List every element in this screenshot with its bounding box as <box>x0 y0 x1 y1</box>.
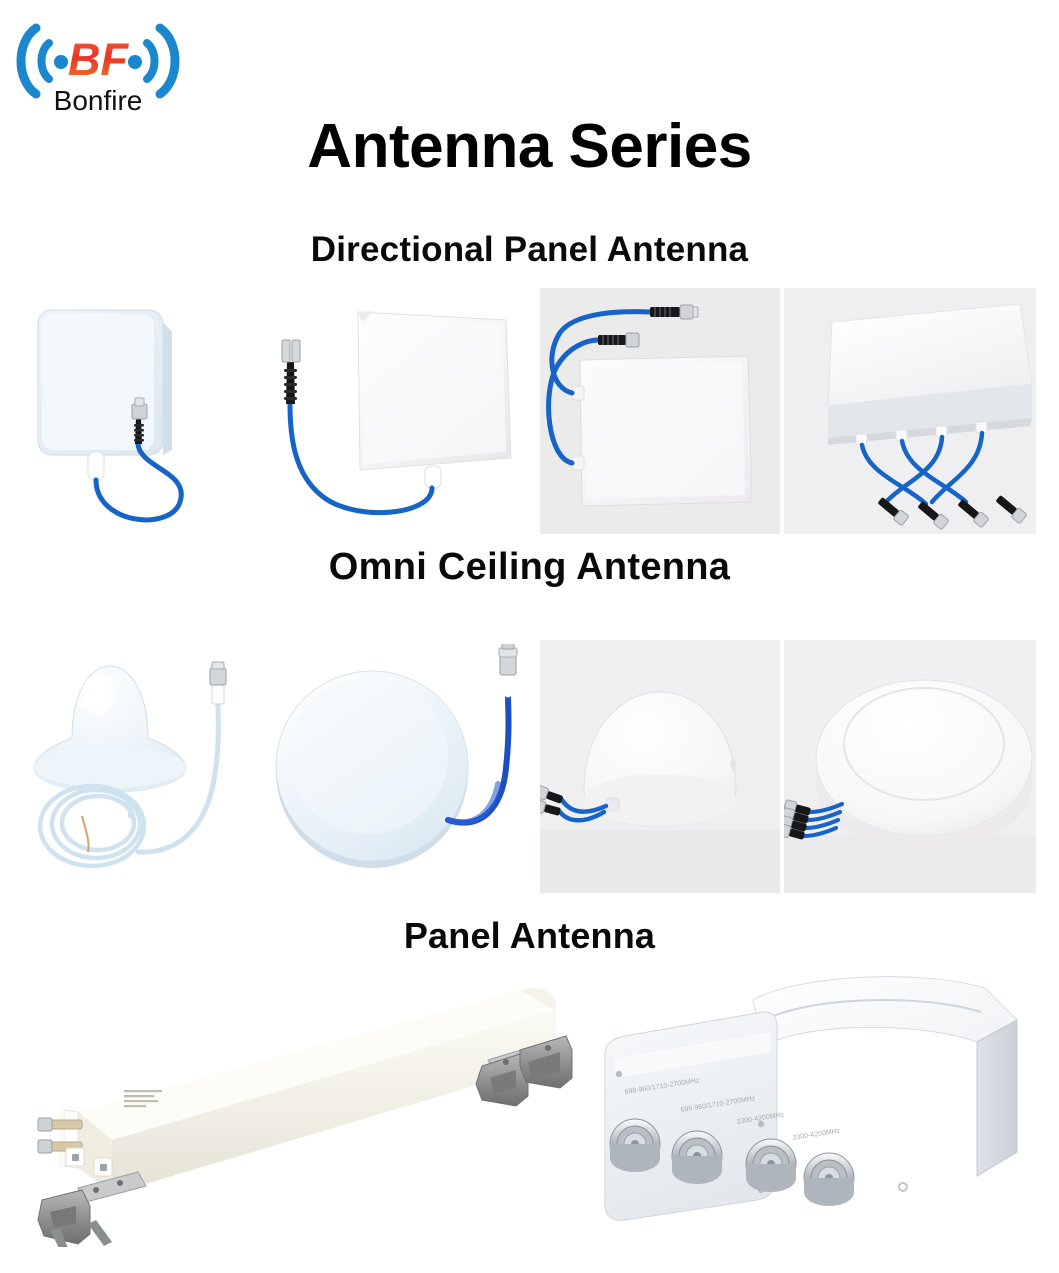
product-photo-flat-panel-antenna-single-port <box>262 296 540 534</box>
brand-name: Bonfire <box>54 85 143 116</box>
product-photo-dome-ceiling-antenna-coiled-cable <box>10 640 270 898</box>
product-photo-wall-mount-panel-antenna <box>20 292 270 536</box>
section-title-directional: Directional Panel Antenna <box>0 232 1059 267</box>
section-row-panel: 698-960/1710-2700MHz 698-960/1710-2700MH… <box>0 962 1059 1252</box>
wifi-signal-icon: BF Bonfire <box>8 18 188 116</box>
section-row-directional <box>0 286 1059 536</box>
port-label-4: 3300-4200MHz <box>792 1127 841 1141</box>
product-photo-flat-panel-antenna-dual-port <box>540 288 780 534</box>
product-photo-dome-ceiling-antenna-dual-port <box>540 640 780 893</box>
page-title: Antenna Series <box>0 116 1059 178</box>
catalog-page: BF Bonfire Antenna Series Directional Pa… <box>0 0 1059 1273</box>
brand-abbr: BF <box>68 34 129 85</box>
brand-logo: BF Bonfire <box>8 18 188 116</box>
product-photo-four-port-panel-antenna-enclosure: 698-960/1710-2700MHz 698-960/1710-2700MH… <box>585 962 1045 1247</box>
product-photo-sector-panel-antenna-with-brackets <box>20 962 580 1247</box>
section-title-panel: Panel Antenna <box>0 918 1059 954</box>
section-row-omni <box>0 640 1059 898</box>
product-photo-dome-ceiling-antenna-quad-port <box>784 640 1036 893</box>
product-photo-flat-disc-ceiling-antenna <box>268 644 540 896</box>
section-title-omni: Omni Ceiling Antenna <box>0 548 1059 586</box>
product-photo-wide-panel-antenna-quad-port <box>784 288 1036 534</box>
